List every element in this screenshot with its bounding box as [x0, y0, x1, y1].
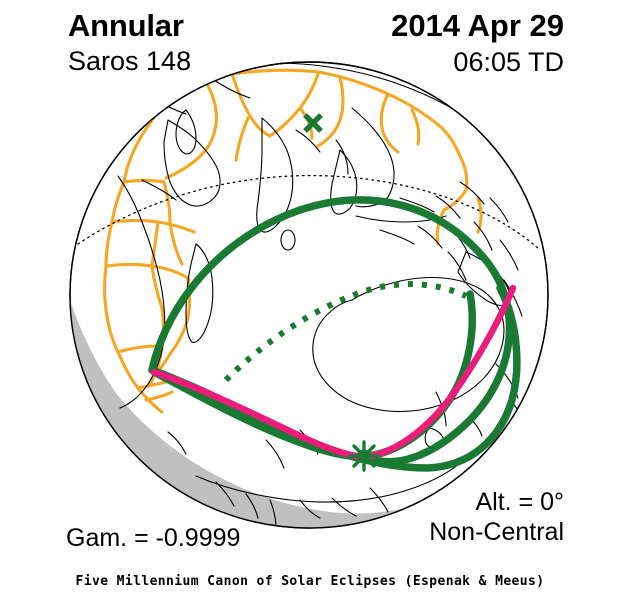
eclipse-diagram: Annular Saros 148 2014 Apr 29 06:05 TD G… [0, 0, 620, 600]
greatest-eclipse-asterisk-marker [350, 442, 378, 470]
saros-series-label: Saros 148 [68, 46, 191, 77]
eclipse-date: 2014 Apr 29 [391, 8, 564, 44]
central-type-label: Non-Central [429, 518, 564, 547]
gamma-value: Gam. = -0.9999 [66, 524, 240, 553]
credit-line: Five Millennium Canon of Solar Eclipses … [0, 574, 620, 589]
eclipse-type-title: Annular [68, 8, 184, 44]
altitude-value: Alt. = 0° [475, 488, 564, 517]
eclipse-time: 06:05 TD [453, 47, 564, 78]
